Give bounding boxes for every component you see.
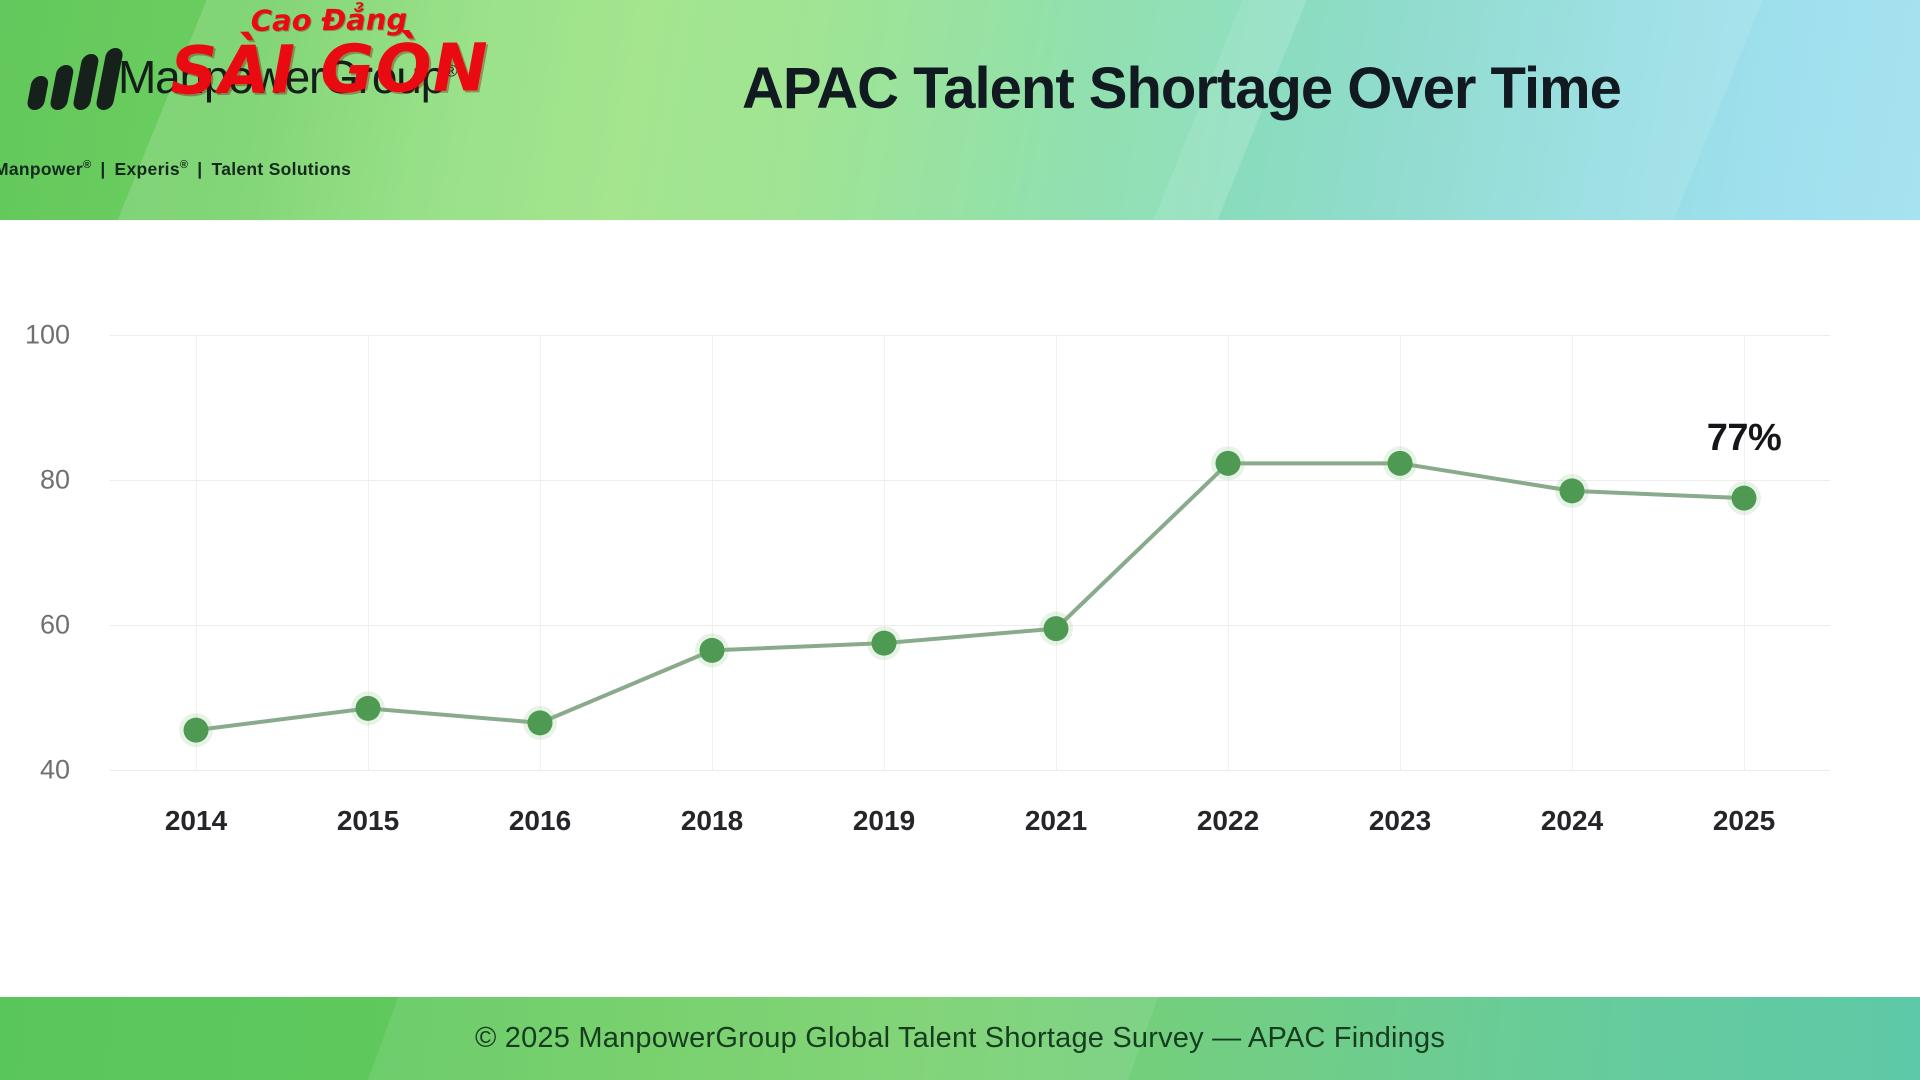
x-axis-tick-label: 2024 [1541,805,1603,837]
logo-wordmark: ManpowerGroup® [118,50,456,104]
gridline-y-40 [110,770,1830,771]
y-axis-tick-label: 100 [0,320,96,351]
data-point-2015[interactable] [356,696,381,721]
footer-band: © 2025 ManpowerGroup Global Talent Short… [0,997,1920,1080]
watermark-line-1: Cao Đẳng [170,4,489,36]
header-band: ManpowerGroup® Manpower®|Experis®|Talent… [0,0,1920,220]
data-point-2024[interactable] [1560,478,1585,503]
y-axis-tick-label: 40 [0,755,96,786]
x-axis-tick-label: 2018 [681,805,743,837]
data-point-2016[interactable] [528,710,553,735]
data-point-2014[interactable] [184,718,209,743]
brand-talent-solutions: Talent Solutions [212,159,352,179]
brand-line: Manpower®|Experis®|Talent Solutions [0,159,351,180]
brand-separator-1: | [91,159,114,179]
y-axis-tick-label: 80 [0,465,96,496]
plot-area: 100806040 201420152016201820192021202220… [110,335,1830,770]
series-polyline [196,463,1744,730]
series-markers [179,446,1761,747]
manpowergroup-bars-icon [24,48,128,110]
x-axis-tick-label: 2015 [337,805,399,837]
slide-canvas: ManpowerGroup® Manpower®|Experis®|Talent… [0,0,1920,1080]
x-axis-tick-label: 2014 [165,805,227,837]
y-axis-tick-label: 60 [0,610,96,641]
x-axis-tick-label: 2021 [1025,805,1087,837]
manpowergroup-logo [24,48,128,110]
data-point-2025[interactable] [1732,486,1757,511]
data-point-2021[interactable] [1044,616,1069,641]
data-point-2019[interactable] [872,631,897,656]
page-title: APAC Talent Shortage Over Time [742,55,1621,122]
x-axis-tick-label: 2022 [1197,805,1259,837]
value-callout: 77% [1707,417,1782,460]
data-point-2023[interactable] [1388,451,1413,476]
brand-manpower: Manpower [0,159,83,179]
chart-area: 100806040 201420152016201820192021202220… [0,220,1920,997]
registered-mark-icon: ® [445,62,456,81]
x-axis-tick-label: 2025 [1713,805,1775,837]
data-point-2022[interactable] [1216,451,1241,476]
line-series [110,335,1830,770]
data-point-2018[interactable] [700,638,725,663]
logo-wordmark-text: ManpowerGroup [118,51,445,103]
x-axis-tick-label: 2023 [1369,805,1431,837]
x-axis-tick-label: 2016 [509,805,571,837]
brand-separator-2: | [188,159,211,179]
brand-experis: Experis [115,159,180,179]
footer-credit: © 2025 ManpowerGroup Global Talent Short… [0,997,1920,1080]
x-axis-tick-label: 2019 [853,805,915,837]
